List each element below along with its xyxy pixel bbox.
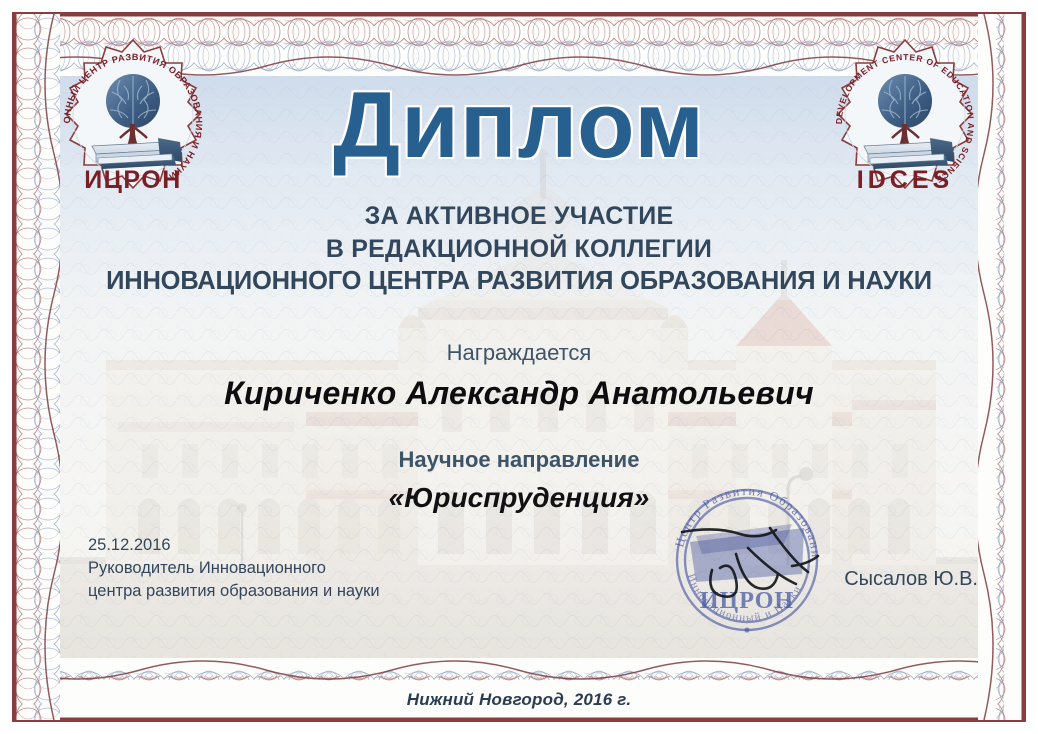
award-reason-line-2: В РЕДАКЦИОННОЙ КОЛЛЕГИИ xyxy=(60,233,978,266)
signatory-role-line-2: центра развития образования и науки xyxy=(88,580,380,603)
signature-block-left: 25.12.2016 Руководитель Инновационного ц… xyxy=(88,534,380,602)
signatory-name: Сысалов Ю.В. xyxy=(844,568,978,591)
issue-date: 25.12.2016 xyxy=(88,534,380,557)
award-reason: ЗА АКТИВНОЕ УЧАСТИЕ В РЕДАКЦИОННОЙ КОЛЛЕ… xyxy=(60,200,978,298)
certificate: Центр Развития Образования Инновационный… xyxy=(0,0,1038,734)
recipient-name: Кириченко Александр Анатольевич xyxy=(0,375,1038,412)
signatory-role-line-1: Руководитель Инновационного xyxy=(88,557,380,580)
direction-label: Научное направление xyxy=(0,447,1038,473)
page-title: Диплом xyxy=(0,78,1038,172)
direction-value: «Юриспруденция» xyxy=(0,482,1038,514)
award-reason-line-3: ИННОВАЦИОННОГО ЦЕНТРА РАЗВИТИЯ ОБРАЗОВАН… xyxy=(60,265,978,298)
footer-place-year: Нижний Новгород, 2016 г. xyxy=(0,690,1038,710)
award-reason-line-1: ЗА АКТИВНОЕ УЧАСТИЕ xyxy=(60,200,978,233)
awarded-label: Награждается xyxy=(0,340,1038,366)
